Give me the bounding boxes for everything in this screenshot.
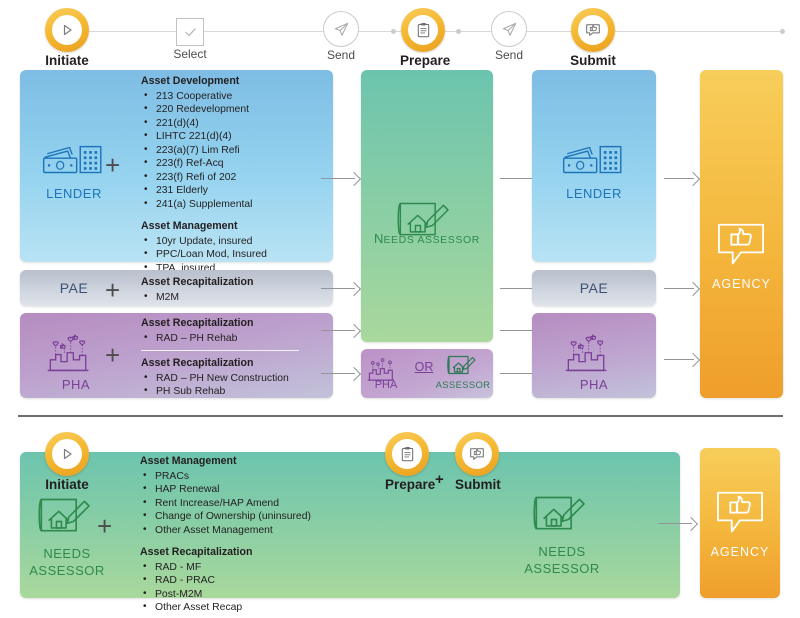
- needs-assessor-icon: [34, 492, 100, 540]
- money-building-icon: [561, 140, 627, 180]
- play-icon: [45, 8, 89, 52]
- entity-label-line2: ASSESSOR: [26, 563, 108, 578]
- bottom-step-submit[interactable]: Submit: [455, 432, 499, 492]
- plus-sign: +: [435, 471, 444, 488]
- or-connector-label: OR: [409, 360, 439, 374]
- entity-label: PAE: [532, 280, 656, 296]
- assessor-label-rest: EEDS ASSESSOR: [383, 234, 480, 246]
- entity-label-line1: NEEDS: [26, 546, 108, 561]
- thumbs-up-bubble-icon: [716, 222, 766, 273]
- list-item: PPC/Loan Mod, Insured: [141, 248, 267, 262]
- needs-assessor-label: NEEDS ASSESSOR: [361, 230, 493, 248]
- step-prepare[interactable]: Prepare: [400, 8, 446, 68]
- list-item: 223(f) Ref-Acq: [141, 157, 267, 171]
- thumbs-up-bubble-icon: [455, 432, 499, 476]
- list-item: PRACs: [140, 470, 311, 484]
- plus-sign: +: [97, 513, 112, 539]
- plus-sign: +: [105, 277, 120, 303]
- flow-arrow: [321, 284, 361, 294]
- step-label: Initiate: [44, 477, 90, 492]
- pha-skyline-icon: [45, 328, 107, 374]
- bottom-step-prepare[interactable]: Prepare: [385, 432, 429, 492]
- list-heading: Asset Development: [141, 75, 267, 89]
- list-heading: Asset Recapitalization: [141, 317, 299, 331]
- list-item: 221(d)(4): [141, 117, 267, 131]
- step-label: Send: [318, 48, 364, 62]
- step-label: Submit: [568, 53, 618, 68]
- assessor-mini-label: ASSESSOR: [434, 380, 492, 391]
- step-label: Initiate: [44, 53, 90, 68]
- paper-plane-icon: [491, 11, 527, 47]
- list-item: HAP Renewal: [140, 483, 311, 497]
- list-item: 241(a) Supplemental: [141, 198, 267, 212]
- entity-label: LENDER: [28, 186, 120, 201]
- step-initiate[interactable]: Initiate: [44, 8, 90, 68]
- plus-sign: +: [105, 152, 120, 178]
- step-label: Send: [486, 48, 532, 62]
- step-send-1[interactable]: Send: [318, 11, 364, 62]
- entity-pha-submit: PHA: [563, 328, 625, 392]
- flow-arrow: [664, 284, 700, 294]
- flow-arrow: [664, 174, 700, 184]
- list-item: 223(a)(7) Lim Refi: [141, 144, 267, 158]
- list-item: Rent Increase/HAP Amend: [140, 497, 311, 511]
- list-item: Change of Ownership (uninsured): [140, 510, 311, 524]
- list-heading: Asset Recapitalization: [140, 546, 311, 560]
- step-send-2[interactable]: Send: [486, 11, 532, 62]
- pha-mini-label: PHA: [362, 379, 410, 391]
- rail-dot: [391, 29, 396, 34]
- step-label: Submit: [455, 477, 499, 492]
- entity-lender-submit: LENDER: [548, 140, 640, 201]
- bottom-service-list: Asset Management PRACs HAP Renewal Rent …: [140, 455, 311, 615]
- bottom-step-initiate[interactable]: Initiate: [44, 432, 90, 492]
- entity-needs-assessor-submit: NEEDS ASSESSOR: [517, 490, 607, 576]
- list-item: 231 Elderly: [141, 184, 267, 198]
- list-heading: Asset Recapitalization: [141, 276, 253, 290]
- checkbox-icon: [176, 18, 204, 46]
- entity-label: PHA: [30, 377, 122, 392]
- play-icon: [45, 432, 89, 476]
- pae-service-list: Asset Recapitalization M2M: [141, 276, 253, 304]
- list-item: 10yr Update, insured: [141, 235, 267, 249]
- step-label: Prepare: [400, 53, 446, 68]
- list-item: RAD – PH New Construction: [141, 372, 299, 386]
- list-item: M2M: [141, 291, 253, 305]
- list-divider: [141, 350, 299, 351]
- section-divider: [18, 415, 783, 417]
- entity-needs-assessor-initiator: NEEDS ASSESSOR: [26, 492, 108, 578]
- clipboard-icon: [385, 432, 429, 476]
- flow-arrow: [321, 326, 361, 336]
- flow-arrow: [321, 174, 361, 184]
- list-item: 223(f) Refi of 202: [141, 171, 267, 185]
- list-heading: Asset Management: [141, 220, 267, 234]
- bottom-agency-label: AGENCY: [700, 545, 780, 559]
- pha-skyline-icon: [563, 328, 625, 374]
- list-item: Other Asset Recap: [140, 601, 311, 615]
- list-item: LIHTC 221(d)(4): [141, 130, 267, 144]
- list-item: RAD - MF: [140, 561, 311, 575]
- thumbs-up-bubble-icon: [571, 8, 615, 52]
- entity-label: PHA: [563, 377, 625, 392]
- rail-dot: [780, 29, 785, 34]
- entity-pae-submit: PAE: [532, 279, 656, 296]
- list-item: Post-M2M: [140, 588, 311, 602]
- agency-label: AGENCY: [700, 277, 783, 291]
- flow-arrow: [658, 519, 698, 529]
- clipboard-icon: [401, 8, 445, 52]
- entity-label-line1: NEEDS: [517, 544, 607, 559]
- step-label: Select: [167, 47, 213, 61]
- paper-plane-icon: [323, 11, 359, 47]
- list-item: RAD – PH Rehab: [141, 332, 299, 346]
- thumbs-up-bubble-icon: [715, 490, 765, 541]
- entity-label: LENDER: [548, 186, 640, 201]
- list-item: Other Asset Management: [140, 524, 311, 538]
- list-item: 220 Redevelopment: [141, 103, 267, 117]
- money-building-icon: [41, 140, 107, 180]
- needs-assessor-icon: [529, 490, 595, 538]
- lender-service-list: Asset Development 213 Cooperative 220 Re…: [141, 75, 267, 275]
- entity-label-line2: ASSESSOR: [517, 561, 607, 576]
- step-label: Prepare: [385, 477, 429, 492]
- list-item: PH Sub Rehab: [141, 385, 299, 399]
- pha-service-list: Asset Recapitalization RAD – PH Rehab As…: [141, 317, 299, 399]
- flow-arrow: [664, 355, 700, 365]
- step-select[interactable]: Select: [167, 14, 213, 61]
- flow-arrow: [321, 369, 361, 379]
- rail-dot: [456, 29, 461, 34]
- list-item: RAD - PRAC: [140, 574, 311, 588]
- list-heading: Asset Recapitalization: [141, 357, 299, 371]
- step-submit[interactable]: Submit: [568, 8, 618, 68]
- plus-sign: +: [105, 342, 120, 368]
- list-heading: Asset Management: [140, 455, 311, 469]
- list-item: 213 Cooperative: [141, 90, 267, 104]
